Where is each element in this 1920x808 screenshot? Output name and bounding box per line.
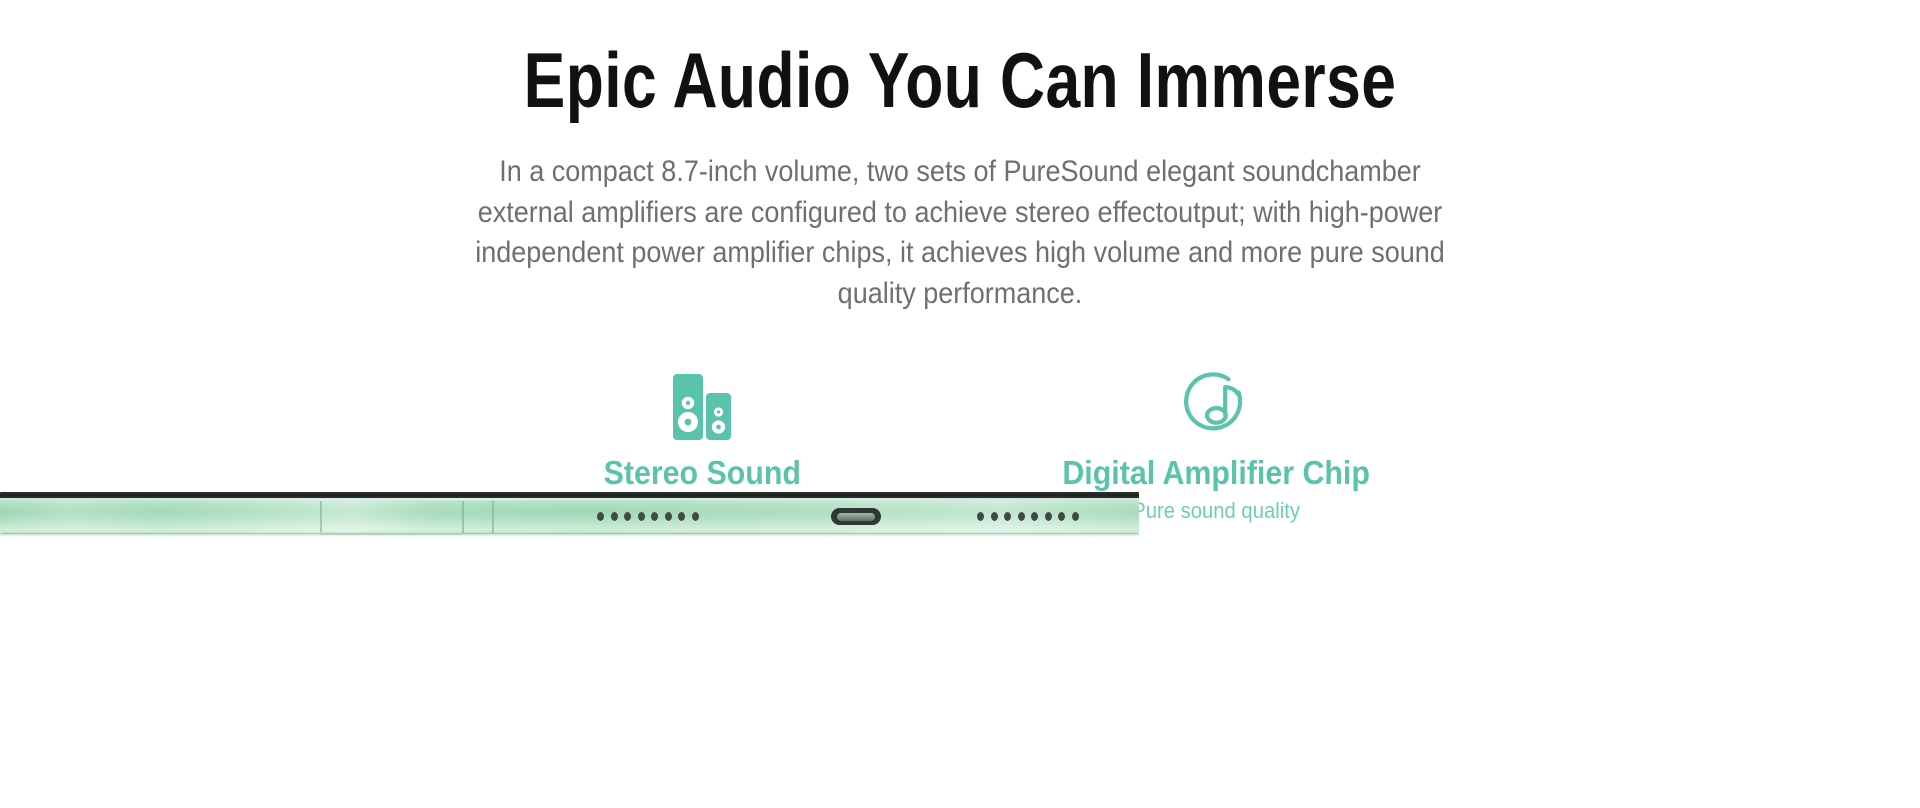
speaker-hole bbox=[1072, 512, 1079, 521]
antenna-seam bbox=[462, 501, 464, 533]
stereo-speakers-icon bbox=[673, 370, 731, 440]
speaker-hole bbox=[638, 512, 645, 521]
feature-title: Stereo Sound bbox=[603, 454, 800, 491]
speaker-grille-left bbox=[597, 512, 699, 521]
tablet-bottom-edge-photo bbox=[0, 492, 1140, 550]
feature-subtitle: Pure sound quality bbox=[1132, 497, 1300, 525]
speaker-hole bbox=[1004, 512, 1011, 521]
page-title: Epic Audio You Can Immerse bbox=[192, 38, 1728, 122]
product-feature-page: Epic Audio You Can Immerse In a compact … bbox=[0, 0, 1920, 808]
speaker-hole bbox=[1058, 512, 1065, 521]
usb-c-port bbox=[831, 508, 881, 525]
usb-c-port-inner bbox=[837, 513, 875, 521]
antenna-seam bbox=[320, 501, 322, 533]
description-paragraph: In a compact 8.7-inch volume, two sets o… bbox=[452, 152, 1469, 314]
tablet-body bbox=[0, 500, 1139, 534]
antenna-seam bbox=[492, 501, 494, 533]
speaker-hole bbox=[678, 512, 685, 521]
speaker-grille-right bbox=[977, 512, 1079, 521]
music-note-circle-icon bbox=[1181, 370, 1251, 440]
tablet-bottom-shadow bbox=[0, 533, 1139, 537]
speaker-hole bbox=[1045, 512, 1052, 521]
feature-title: Digital Amplifier Chip bbox=[1062, 454, 1370, 491]
speaker-hole bbox=[1018, 512, 1025, 521]
speaker-hole bbox=[597, 512, 604, 521]
speaker-hole bbox=[977, 512, 984, 521]
speaker-hole bbox=[1031, 512, 1038, 521]
speaker-hole bbox=[991, 512, 998, 521]
speaker-hole bbox=[611, 512, 618, 521]
speaker-hole bbox=[651, 512, 658, 521]
description-section: In a compact 8.7-inch volume, two sets o… bbox=[395, 152, 1525, 314]
speaker-hole bbox=[624, 512, 631, 521]
speaker-hole bbox=[665, 512, 672, 521]
speaker-hole bbox=[692, 512, 699, 521]
headline-section: Epic Audio You Can Immerse bbox=[0, 38, 1920, 122]
